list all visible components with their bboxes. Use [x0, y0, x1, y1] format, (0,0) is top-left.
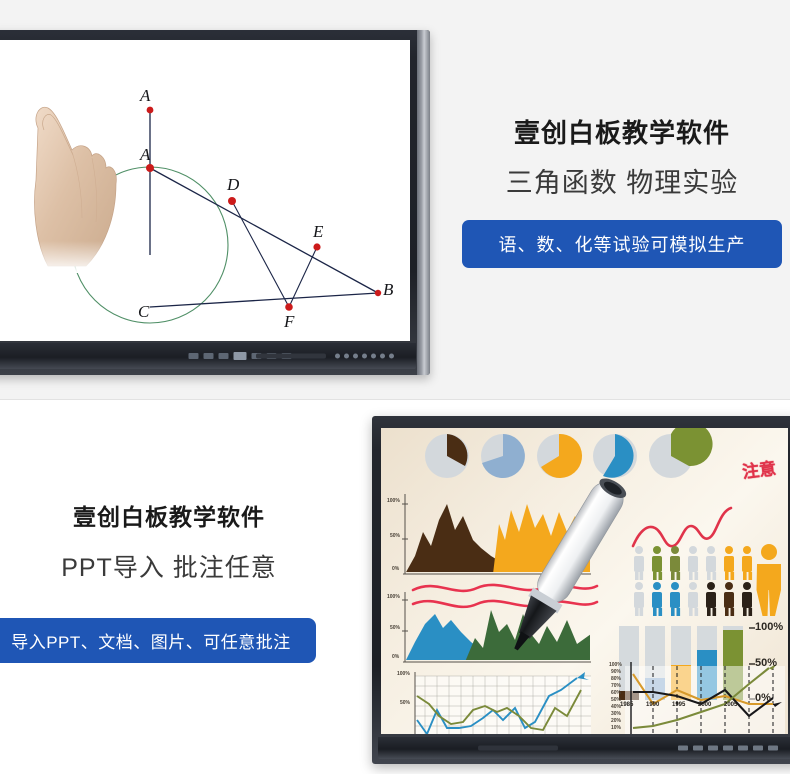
geometry-label-C: C	[138, 302, 149, 322]
monitor-key-back-b[interactable]	[768, 746, 778, 751]
whiteboard-device-bottom: 100% 50% 0% 100% 50% 0% 100% 50% 100% 50…	[372, 416, 790, 764]
speaker-dot	[335, 354, 340, 359]
axis-tick-0-top: 0%	[392, 566, 399, 572]
red-annotation-line	[633, 508, 731, 546]
people-highlight-figure	[757, 544, 782, 616]
pie-chart-1	[425, 434, 469, 478]
point-B[interactable]	[375, 290, 381, 296]
point-A[interactable]	[146, 164, 154, 172]
point-D[interactable]	[228, 197, 236, 205]
pie-chart-3	[537, 434, 582, 478]
monitor-key-power-b[interactable]	[678, 746, 688, 751]
geometry-label-E: E	[313, 222, 323, 242]
copy-block-bottom: 壹创白板教学软件 PPT导入 批注任意	[18, 498, 320, 584]
geometry-label-A-top: A	[140, 86, 150, 106]
feature-badge-bottom[interactable]: 导入PPT、文档、图片、可任意批注	[0, 618, 316, 663]
dash-tick-50: 50%	[611, 697, 621, 703]
axis-tick-100-top: 100%	[387, 498, 400, 504]
pie-chart-5	[649, 428, 713, 478]
dash-tick-10: 10%	[611, 725, 621, 731]
subhead-bottom: PPT导入 批注任意	[18, 548, 320, 584]
speaker-dot	[389, 354, 394, 359]
dash-tick-40: 40%	[611, 704, 621, 710]
bar-axis-100: 100%	[755, 621, 783, 633]
bar-category-1990: 1990	[646, 702, 659, 708]
annotation-note: 注意	[741, 454, 778, 483]
monitor-key-home[interactable]	[233, 352, 246, 360]
dash-tick-70: 70%	[611, 683, 621, 689]
axis-tick-50-bot: 50%	[390, 625, 400, 631]
subhead-top: 三角函数 物理实验	[462, 167, 782, 199]
monitor-key-home-b[interactable]	[723, 746, 733, 751]
headline-top: 壹创白板教学软件	[462, 118, 782, 149]
axis-tick-100-grid: 100%	[397, 671, 410, 677]
point-A-top[interactable]	[147, 107, 154, 114]
dash-tick-30: 30%	[611, 711, 621, 717]
bar-category-2005: 2005	[724, 702, 737, 708]
page-root: A A D E B C F	[0, 0, 790, 774]
bar-axis-0: 0%	[755, 692, 771, 704]
monitor-key-volume-up-b[interactable]	[738, 746, 748, 751]
point-circle-left[interactable]	[69, 242, 75, 248]
pie-chart-group	[425, 428, 713, 478]
line-A-to-B	[150, 168, 378, 293]
dash-tick-20: 20%	[611, 718, 621, 724]
pie-chart-2	[481, 434, 525, 478]
people-row-2	[634, 582, 752, 616]
monitor-key-source[interactable]	[203, 353, 213, 359]
headline-bottom: 壹创白板教学软件	[18, 498, 320, 532]
monitor-control-bar-bottom[interactable]	[378, 737, 790, 759]
speaker-grille	[335, 354, 394, 359]
bar-category-2000: 2000	[698, 702, 711, 708]
line-base	[150, 293, 378, 307]
feature-badge-top[interactable]: 语、数、化等试验可模拟生产	[462, 220, 782, 268]
speaker-dot	[371, 354, 376, 359]
geometry-label-A: A	[140, 145, 150, 165]
monitor-key-source-b[interactable]	[693, 746, 703, 751]
section-bottom: 壹创白板教学软件 PPT导入 批注任意 导入PPT、文档、图片、可任意批注	[0, 400, 790, 774]
bar-category-1995: 1995	[672, 702, 685, 708]
whiteboard-screen-top[interactable]: A A D E B C F	[0, 40, 410, 341]
monitor-key-menu-b[interactable]	[708, 746, 718, 751]
dash-tick-80: 80%	[611, 676, 621, 682]
geometry-label-B: B	[383, 280, 393, 300]
whiteboard-screen-bottom[interactable]: 100% 50% 0% 100% 50% 0% 100% 50% 100% 50…	[381, 428, 788, 734]
copy-block-top: 壹创白板教学软件 三角函数 物理实验 语、数、化等试验可模拟生产	[462, 118, 782, 268]
speaker-dot	[380, 354, 385, 359]
geometry-label-D: D	[227, 175, 239, 195]
monitor-control-bar-top[interactable]	[0, 343, 416, 369]
monitor-key-volume-down-b[interactable]	[753, 746, 763, 751]
geometry-label-F: F	[284, 312, 294, 332]
monitor-key-menu[interactable]	[218, 353, 228, 359]
line-D-to-F	[232, 201, 289, 307]
speaker-dot	[362, 354, 367, 359]
whiteboard-device-top: A A D E B C F	[0, 30, 430, 375]
point-F[interactable]	[285, 303, 293, 311]
dash-tick-60: 60%	[611, 690, 621, 696]
axis-tick-50-grid: 50%	[400, 700, 410, 706]
point-E[interactable]	[313, 243, 320, 250]
people-row-1	[634, 546, 752, 580]
infographic-dashboard[interactable]	[381, 428, 788, 734]
bar-category-1985: 1985	[620, 702, 633, 708]
speaker-dot	[344, 354, 349, 359]
axis-tick-50-top: 50%	[390, 533, 400, 539]
geometry-diagram[interactable]	[0, 40, 410, 341]
grid-line-chart	[415, 672, 591, 734]
section-top: A A D E B C F	[0, 0, 790, 400]
pie-chart-4	[593, 434, 637, 478]
ir-receiver-bottom	[478, 746, 558, 751]
people-pictogram-group	[634, 544, 781, 616]
dash-tick-90: 90%	[611, 669, 621, 675]
axis-tick-100-bot: 100%	[387, 594, 400, 600]
bar-axis-50: 50%	[755, 657, 777, 669]
axis-tick-0-bot: 0%	[392, 654, 399, 660]
monitor-key-power[interactable]	[188, 353, 198, 359]
ir-receiver	[256, 354, 326, 359]
monitor-button-row-bottom[interactable]	[678, 746, 778, 751]
dash-tick-100: 100%	[609, 662, 622, 668]
speaker-dot	[353, 354, 358, 359]
